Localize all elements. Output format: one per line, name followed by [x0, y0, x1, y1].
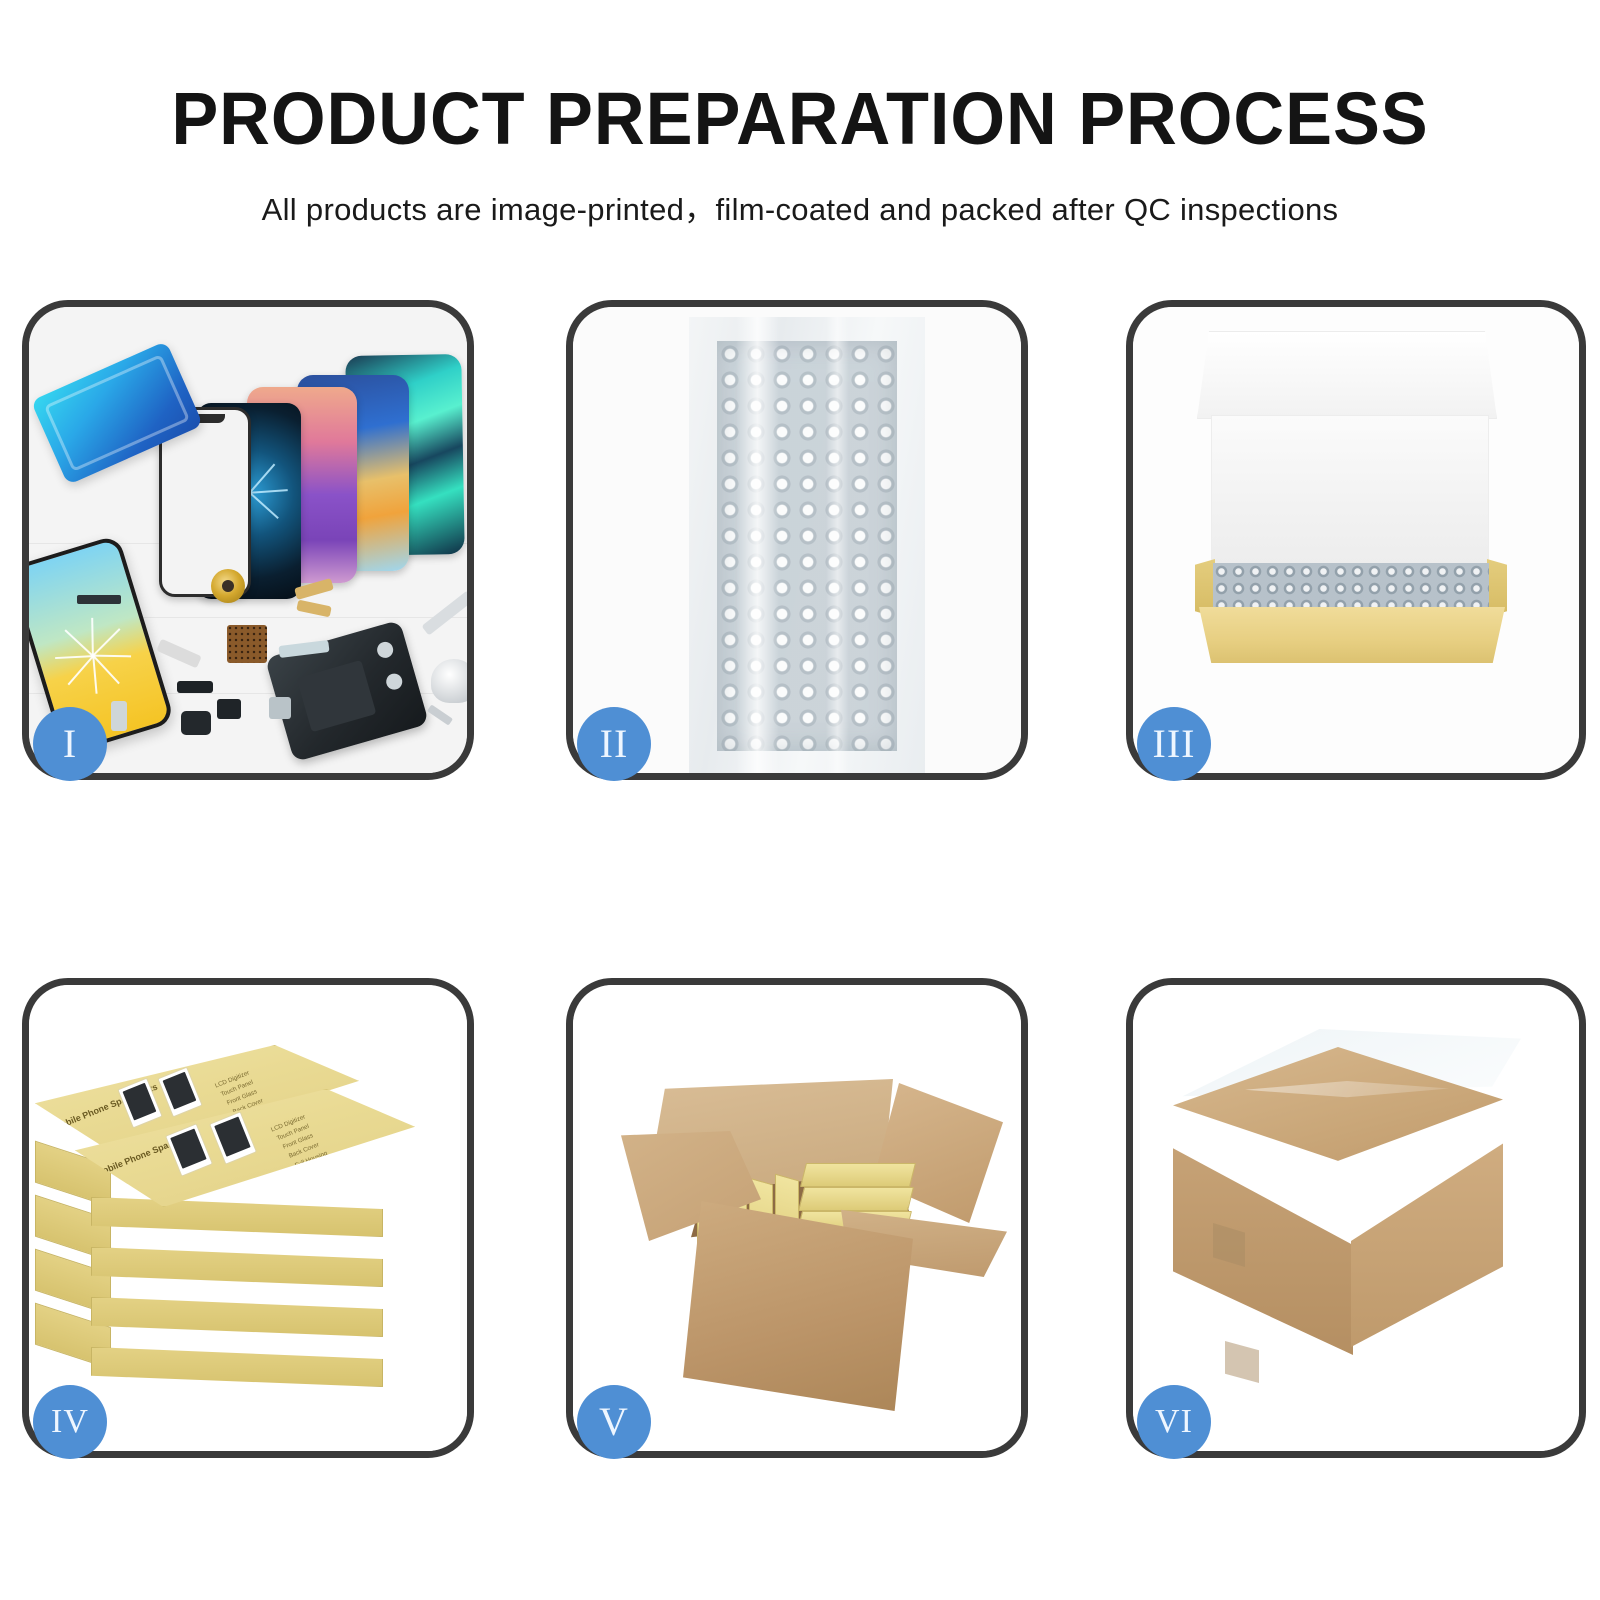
- plastic-sheen: [736, 317, 778, 773]
- step-badge-6: VI: [1137, 1385, 1211, 1459]
- step-panel-5: V: [566, 978, 1028, 1458]
- battery: [297, 660, 377, 733]
- step-badge-3: III: [1137, 707, 1211, 781]
- retail-box-in-carton: [800, 1163, 916, 1187]
- suction-cup-tool: [431, 659, 467, 703]
- plastic-sheen: [826, 317, 850, 773]
- connector-strip: [177, 681, 213, 693]
- speaker-module: [269, 697, 291, 719]
- box-screen-photo: [157, 1067, 202, 1118]
- earpiece-mesh: [77, 595, 121, 604]
- step-image-5: [573, 985, 1021, 1451]
- step-badge-4: IV: [33, 1385, 107, 1459]
- step-panel-3: III: [1126, 300, 1586, 780]
- step-badge-2: II: [577, 707, 651, 781]
- infographic-page: PRODUCT PREPARATION PROCESS All products…: [0, 0, 1600, 1600]
- vibration-motor: [211, 569, 245, 603]
- step-image-4: Mobile Phone Spare Parts LCD Digitizer T…: [29, 985, 467, 1451]
- sim-tray: [111, 701, 127, 731]
- step-panel-6: VI: [1126, 978, 1586, 1458]
- step-image-3: [1133, 307, 1579, 773]
- step-image-6: [1133, 985, 1579, 1451]
- foam-insert: [1211, 415, 1489, 565]
- box-screen-photo: [209, 1111, 257, 1165]
- camera-lens: [375, 640, 395, 660]
- step-badge-5: V: [577, 1385, 651, 1459]
- ic-chip: [227, 625, 267, 663]
- step-image-2: [573, 307, 1021, 773]
- camera-module: [181, 711, 211, 735]
- step-panel-1: I: [22, 300, 474, 780]
- box-lid: [1197, 331, 1497, 419]
- retail-box-in-carton: [798, 1187, 914, 1211]
- speaker-module: [217, 699, 241, 719]
- box-screen-photo: [165, 1123, 213, 1177]
- crack-pattern: [46, 610, 138, 702]
- step-panel-2: II: [566, 300, 1028, 780]
- box-tray-front: [1199, 607, 1505, 663]
- step-panel-4: Mobile Phone Spare Parts LCD Digitizer T…: [22, 978, 474, 1458]
- camera-lens: [384, 671, 404, 691]
- steps-grid: I II: [0, 0, 1600, 1600]
- step-badge-1: I: [33, 707, 107, 781]
- step-image-1: [29, 307, 467, 773]
- bubble-wrap-pouch: [689, 317, 925, 773]
